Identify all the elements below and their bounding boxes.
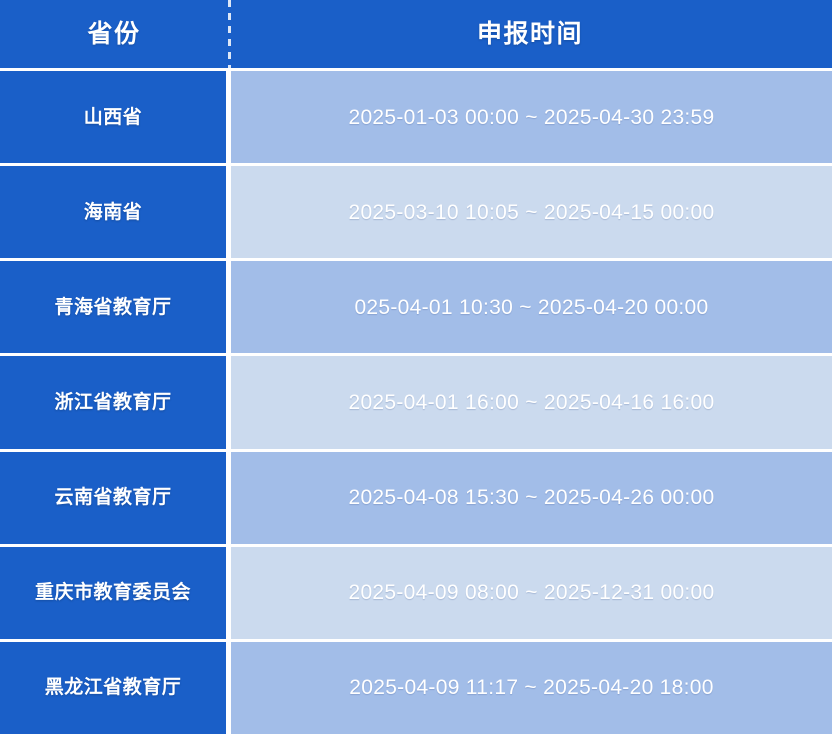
column-header-province-label: 省份: [87, 22, 140, 47]
header-dashed-divider: [228, 0, 231, 68]
table-row: 浙江省教育厅 2025-04-01 16:00 ~ 2025-04-16 16:…: [0, 356, 832, 448]
table-row: 重庆市教育委员会 2025-04-09 08:00 ~ 2025-12-31 0…: [0, 547, 832, 639]
cell-declaration-time: 025-04-01 10:30 ~ 2025-04-20 00:00: [231, 261, 832, 353]
province-name: 青海省教育厅: [54, 298, 171, 317]
declaration-time-range: 2025-04-01 16:00 ~ 2025-04-16 16:00: [348, 392, 714, 413]
province-name: 云南省教育厅: [54, 488, 171, 507]
declaration-time-range: 025-04-01 10:30 ~ 2025-04-20 00:00: [354, 297, 708, 318]
cell-declaration-time: 2025-04-09 08:00 ~ 2025-12-31 00:00: [231, 547, 832, 639]
cell-province: 黑龙江省教育厅: [0, 642, 226, 734]
cell-declaration-time: 2025-03-10 10:05 ~ 2025-04-15 00:00: [231, 166, 832, 258]
declaration-time-range: 2025-03-10 10:05 ~ 2025-04-15 00:00: [348, 202, 714, 223]
table-row: 青海省教育厅 025-04-01 10:30 ~ 2025-04-20 00:0…: [0, 261, 832, 353]
cell-province: 浙江省教育厅: [0, 356, 226, 448]
cell-province: 青海省教育厅: [0, 261, 226, 353]
column-header-time: 申报时间: [228, 0, 832, 68]
cell-declaration-time: 2025-04-09 11:17 ~ 2025-04-20 18:00: [231, 642, 832, 734]
cell-declaration-time: 2025-04-08 15:30 ~ 2025-04-26 00:00: [231, 452, 832, 544]
province-name: 海南省: [84, 203, 143, 222]
declaration-schedule-table: 省份 申报时间 山西省 2025-01-03 00:00 ~ 2025-04-3…: [0, 0, 832, 734]
table-row: 海南省 2025-03-10 10:05 ~ 2025-04-15 00:00: [0, 166, 832, 258]
table-header-row: 省份 申报时间: [0, 0, 832, 68]
cell-province: 山西省: [0, 71, 226, 163]
declaration-time-range: 2025-04-09 11:17 ~ 2025-04-20 18:00: [349, 677, 714, 698]
cell-declaration-time: 2025-04-01 16:00 ~ 2025-04-16 16:00: [231, 356, 832, 448]
declaration-time-range: 2025-04-09 08:00 ~ 2025-12-31 00:00: [348, 582, 714, 603]
cell-declaration-time: 2025-01-03 00:00 ~ 2025-04-30 23:59: [231, 71, 832, 163]
declaration-time-range: 2025-04-08 15:30 ~ 2025-04-26 00:00: [348, 487, 714, 508]
table-row: 云南省教育厅 2025-04-08 15:30 ~ 2025-04-26 00:…: [0, 452, 832, 544]
table-row: 黑龙江省教育厅 2025-04-09 11:17 ~ 2025-04-20 18…: [0, 642, 832, 734]
province-name: 黑龙江省教育厅: [45, 678, 182, 697]
province-name: 山西省: [84, 108, 143, 127]
province-name: 重庆市教育委员会: [35, 583, 191, 602]
column-header-time-label: 申报时间: [477, 22, 583, 47]
table-row: 山西省 2025-01-03 00:00 ~ 2025-04-30 23:59: [0, 71, 832, 163]
province-name: 浙江省教育厅: [54, 393, 171, 412]
table-body: 山西省 2025-01-03 00:00 ~ 2025-04-30 23:59 …: [0, 68, 832, 734]
declaration-time-range: 2025-01-03 00:00 ~ 2025-04-30 23:59: [348, 107, 714, 128]
cell-province: 重庆市教育委员会: [0, 547, 226, 639]
column-header-province: 省份: [0, 0, 228, 68]
cell-province: 海南省: [0, 166, 226, 258]
cell-province: 云南省教育厅: [0, 452, 226, 544]
